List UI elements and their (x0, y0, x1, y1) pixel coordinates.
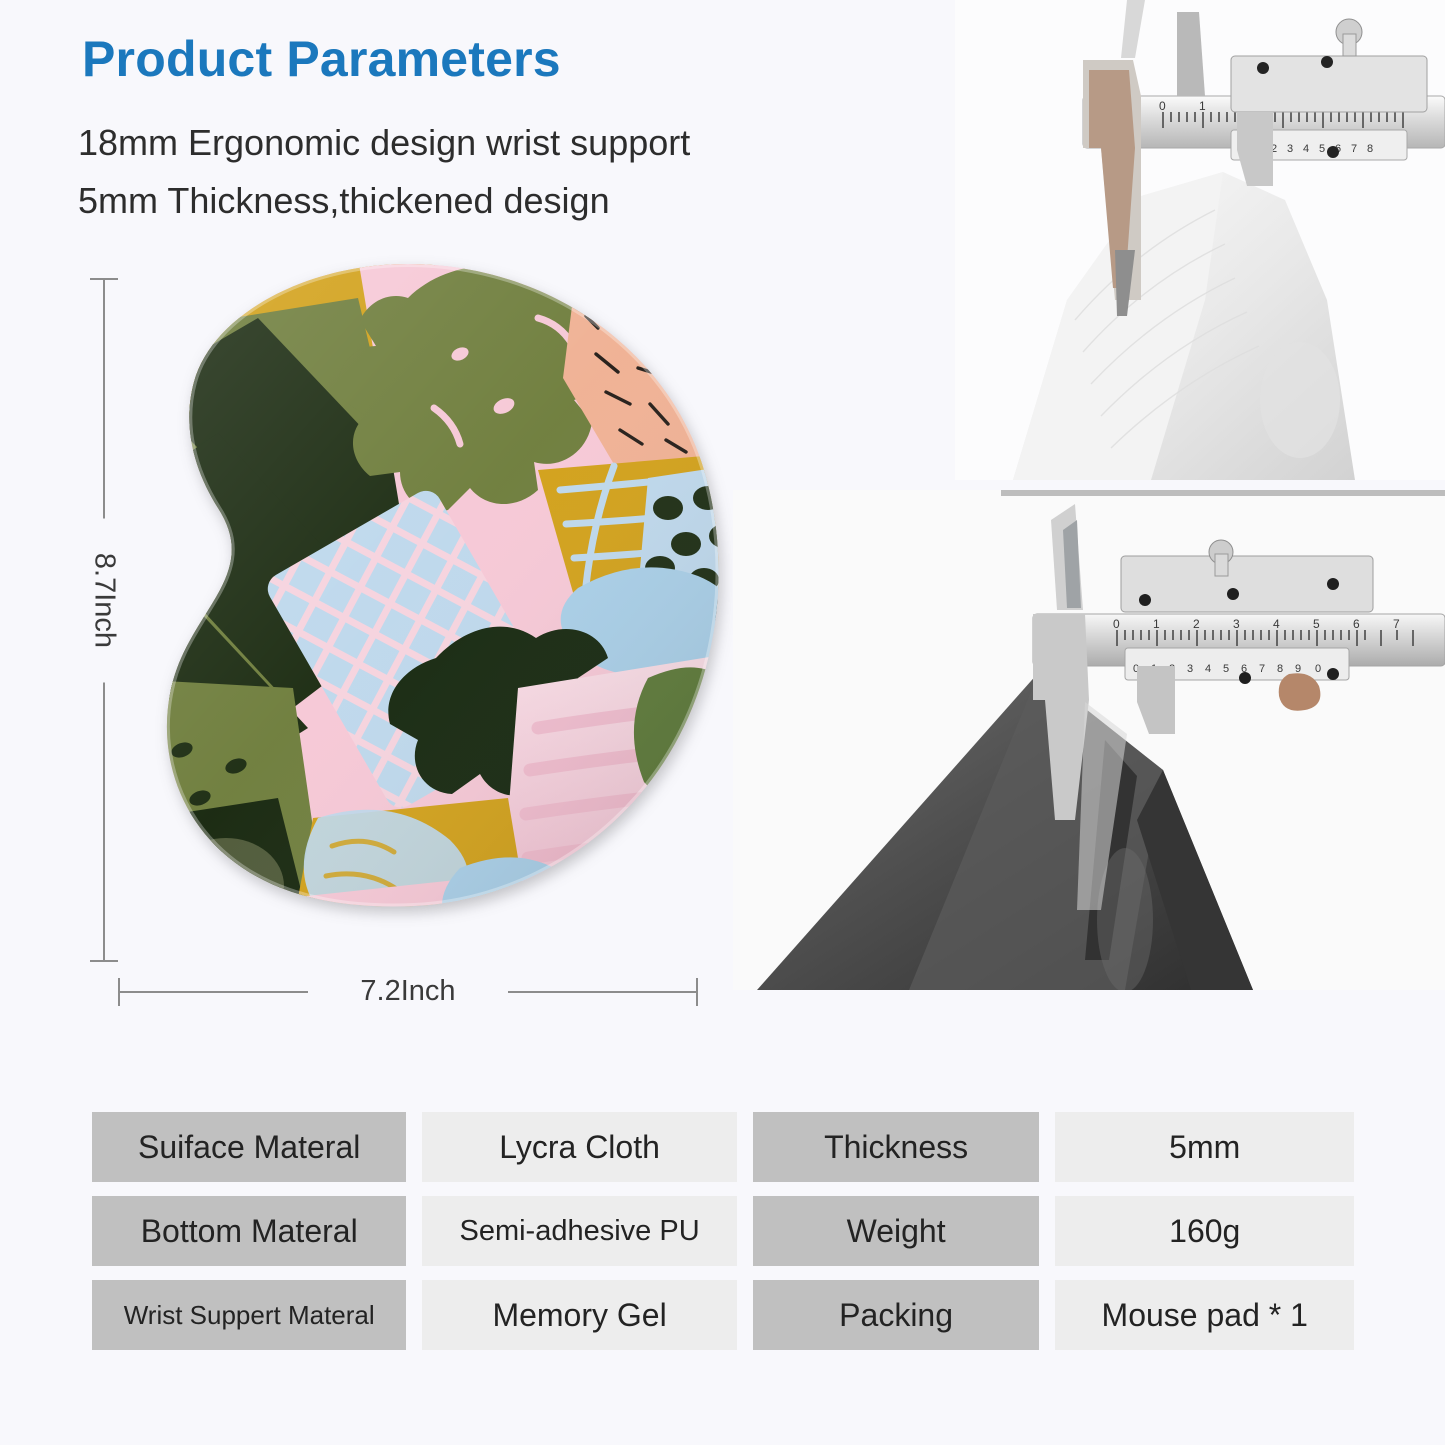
caliper-pu-icon: 012 345 67 012 345 678 90 (733, 490, 1445, 990)
table-row: Bottom Materal Semi-adhesive PU Weight 1… (92, 1196, 1354, 1266)
width-dimension-line: 7.2Inch (118, 972, 698, 1012)
spec-key-surface-material: Suiface Materal (92, 1112, 406, 1182)
svg-text:5: 5 (1319, 143, 1325, 155)
table-row: Suiface Materal Lycra Cloth Thickness 5m… (92, 1112, 1354, 1182)
dimension-cap-left (118, 978, 120, 1006)
svg-text:4: 4 (1205, 663, 1211, 675)
spec-value-surface-material: Lycra Cloth (422, 1112, 736, 1182)
spec-key-weight: Weight (753, 1196, 1040, 1266)
dimension-cap-right (696, 978, 698, 1006)
svg-text:3: 3 (1187, 663, 1193, 675)
svg-text:4: 4 (1303, 143, 1309, 155)
svg-text:6: 6 (1353, 617, 1360, 631)
svg-text:8: 8 (1277, 663, 1283, 675)
spec-key-packing: Packing (753, 1280, 1040, 1350)
spec-value-packing: Mouse pad * 1 (1055, 1280, 1354, 1350)
photo-caliper-bottom: 012 345 67 012 345 678 90 (733, 490, 1445, 990)
caliper-lycra-icon: 012 345 6 012 345 678 (955, 0, 1445, 480)
svg-text:3: 3 (1233, 617, 1240, 631)
svg-text:7: 7 (1351, 143, 1357, 155)
svg-text:9: 9 (1295, 663, 1301, 675)
width-dimension-label: 7.2Inch (308, 972, 508, 1011)
spec-key-wrist-support-material: Wrist Suppert Materal (92, 1280, 406, 1350)
spec-key-thickness: Thickness (753, 1112, 1040, 1182)
photo-caliper-surface: 012 345 6 012 345 678 (955, 0, 1445, 480)
mouse-pad-image (108, 258, 728, 958)
svg-text:4: 4 (1273, 617, 1280, 631)
header-line-2: 5mm Thickness,thickened design (78, 180, 610, 222)
svg-text:5: 5 (1223, 663, 1229, 675)
svg-text:7: 7 (1259, 663, 1265, 675)
mouse-pad-tropical-icon (108, 258, 728, 958)
spec-value-wrist-support-material: Memory Gel (422, 1280, 736, 1350)
dimension-cap-bottom (90, 960, 118, 962)
spec-key-bottom-material: Bottom Materal (92, 1196, 406, 1266)
svg-text:1: 1 (1153, 617, 1160, 631)
svg-text:0: 0 (1315, 663, 1321, 675)
svg-text:7: 7 (1393, 617, 1400, 631)
spec-value-bottom-material: Semi-adhesive PU (422, 1196, 736, 1266)
svg-text:8: 8 (1367, 143, 1373, 155)
svg-text:5: 5 (1313, 617, 1320, 631)
table-row: Wrist Suppert Materal Memory Gel Packing… (92, 1280, 1354, 1350)
product-parameters-infographic: Product Parameters 18mm Ergonomic design… (0, 0, 1445, 1445)
specification-table: Suiface Materal Lycra Cloth Thickness 5m… (92, 1112, 1354, 1364)
page-title: Product Parameters (82, 30, 561, 88)
svg-text:1: 1 (1199, 99, 1206, 113)
svg-text:2: 2 (1193, 617, 1200, 631)
product-dimension-block: 8.7Inch (60, 250, 740, 1010)
svg-text:0: 0 (1113, 617, 1120, 631)
svg-text:0: 0 (1159, 99, 1166, 113)
spec-value-thickness: 5mm (1055, 1112, 1354, 1182)
svg-text:3: 3 (1287, 143, 1293, 155)
spec-value-weight: 160g (1055, 1196, 1354, 1266)
header-line-1: 18mm Ergonomic design wrist support (78, 122, 690, 164)
